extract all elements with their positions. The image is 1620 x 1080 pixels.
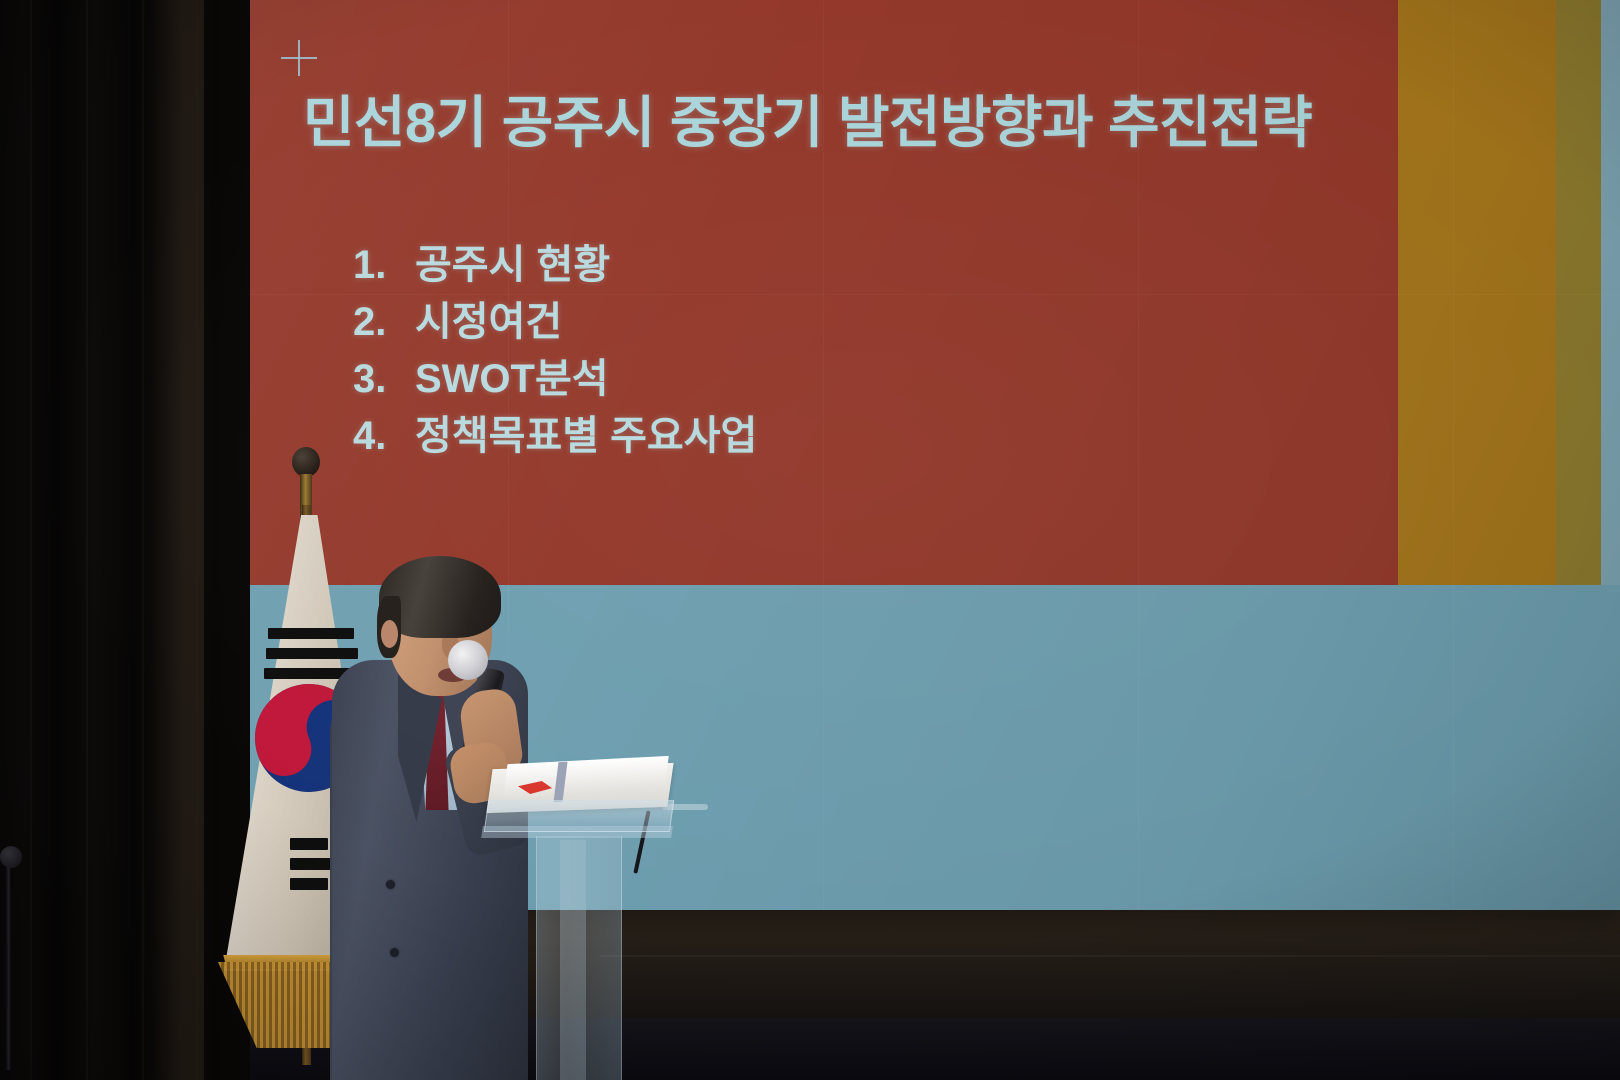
podium-lip (481, 826, 673, 838)
presenter (0, 0, 1620, 1080)
microphone-stand (6, 860, 11, 1070)
microphone-icon (448, 640, 488, 680)
presenter-ear (381, 620, 398, 648)
jacket-button (390, 948, 399, 957)
stage-scene: 민선8기 공주시 중장기 발전방향과 추진전략 1. 공주시 현황 2. 시정여… (0, 0, 1620, 1080)
microphone-stand-head-icon (0, 846, 22, 868)
jacket-button (386, 880, 395, 889)
podium-inner-panel (560, 840, 586, 1080)
